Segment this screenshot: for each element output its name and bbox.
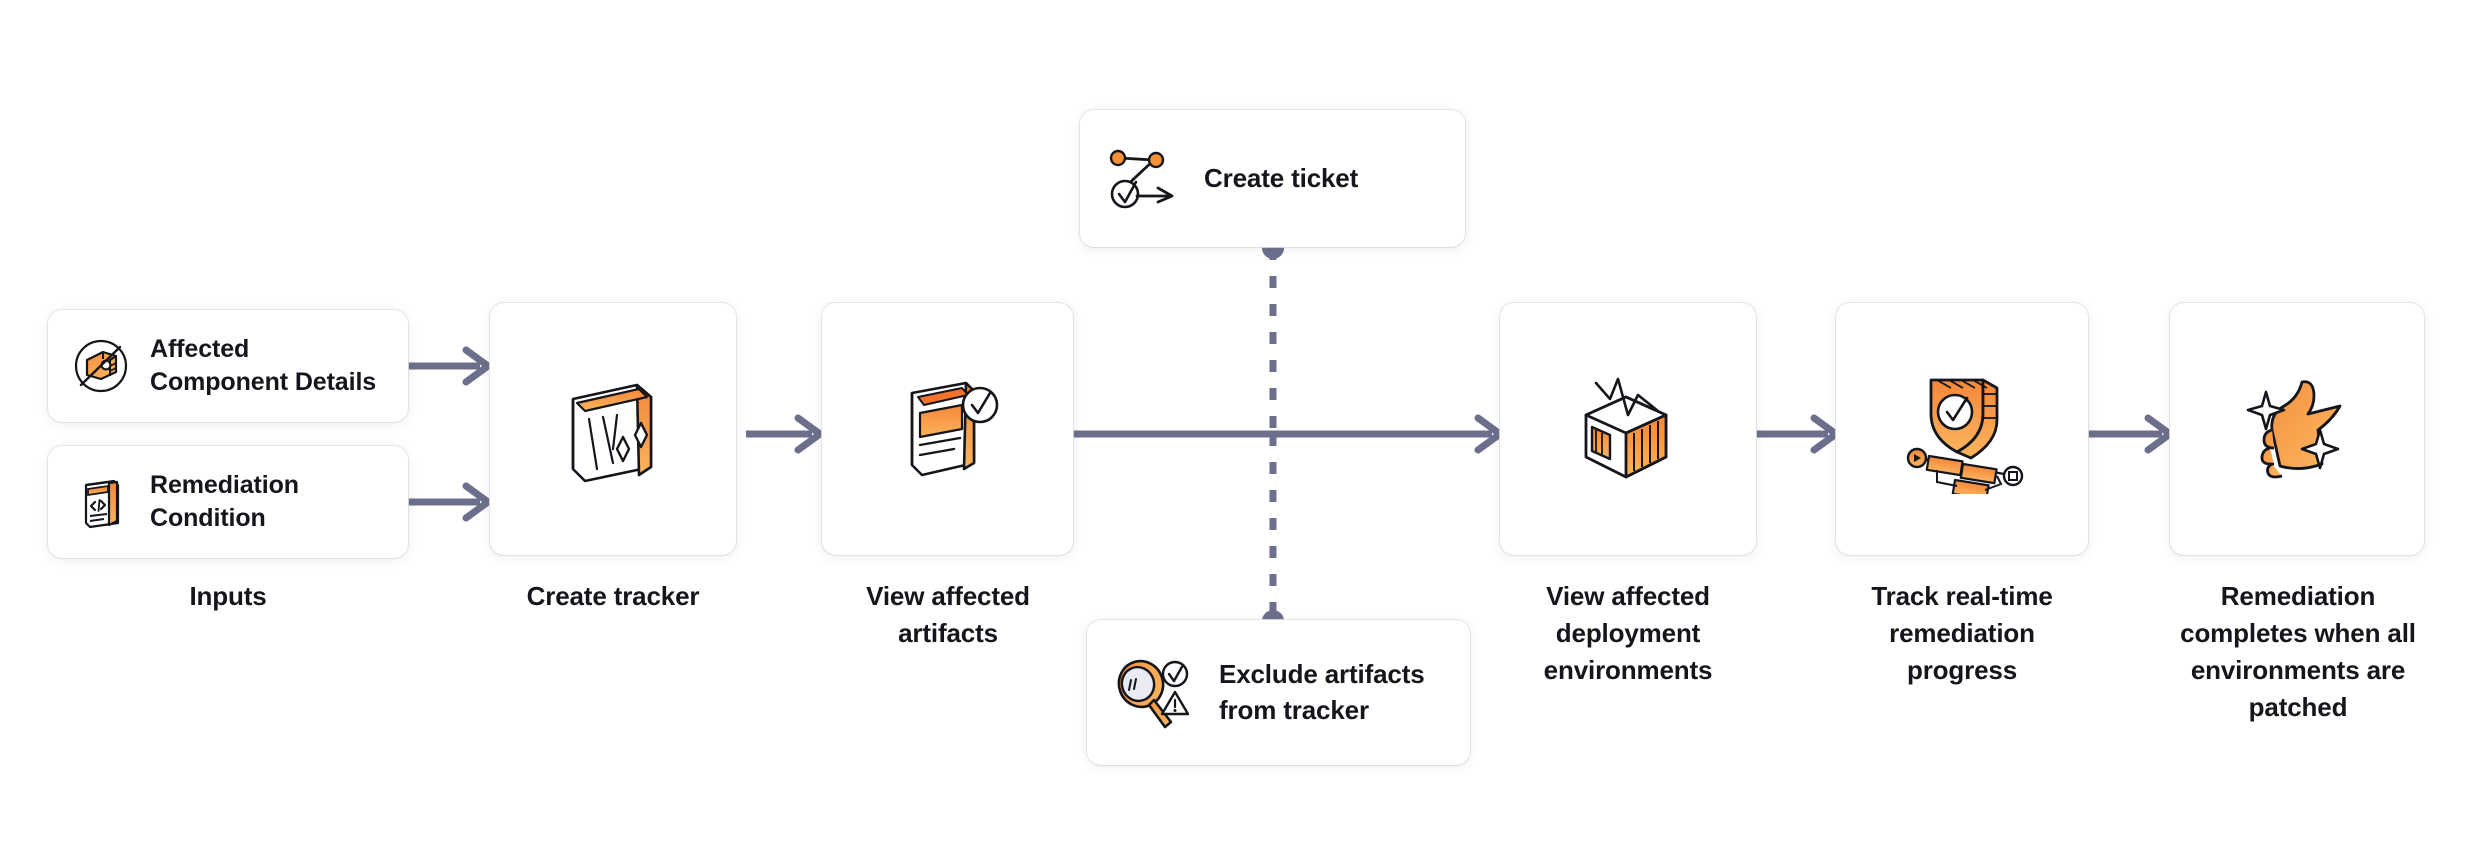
step-card-remediation-complete[interactable]: [2170, 303, 2424, 555]
step-card-create-tracker[interactable]: [490, 303, 736, 555]
step-label-create-tracker: Create tracker: [470, 578, 756, 615]
callout-label-create-ticket: Create ticket: [1204, 161, 1358, 196]
arrow-track-progress-to-remediation-complete: [2088, 418, 2170, 450]
arrow-remediation-condition-to-create-tracker: [408, 486, 488, 518]
input-label-affected-component-details: Affected Component Details: [150, 333, 376, 399]
step-label-track-real-time-remediation-progress: Track real-time remediation progress: [1818, 578, 2106, 689]
workflow-ticket-icon: [1106, 144, 1184, 214]
callout-card-exclude-artifacts-from-tracker[interactable]: Exclude artifacts from tracker: [1087, 620, 1470, 765]
shield-progress-icon: [1897, 364, 2027, 494]
input-card-affected-component-details[interactable]: Affected Component Details: [48, 310, 408, 422]
callout-label-exclude-artifacts-from-tracker: Exclude artifacts from tracker: [1219, 657, 1425, 728]
group-label-inputs: Inputs: [48, 578, 408, 615]
callout-card-create-ticket[interactable]: Create ticket: [1080, 110, 1465, 247]
step-label-remediation-complete: Remediation completes when all environme…: [2152, 578, 2444, 726]
step-label-view-affected-deployment-environments: View affected deployment environments: [1480, 578, 1776, 689]
arrow-view-artifacts-to-view-environments: [1073, 418, 1500, 450]
thumbs-up-icon: [2236, 368, 2358, 490]
input-label-remediation-condition: Remediation Condition: [150, 469, 299, 535]
arrow-create-tracker-to-view-artifacts: [746, 418, 820, 450]
step-card-view-affected-deployment-environments[interactable]: [1500, 303, 1756, 555]
arrow-affected-component-to-create-tracker: [408, 350, 488, 382]
tracker-board-icon: [555, 371, 671, 487]
affected-component-icon: [70, 335, 132, 397]
code-document-icon: [70, 471, 132, 533]
document-check-icon: [890, 371, 1006, 487]
magnifier-exclude-icon: [1113, 652, 1199, 734]
input-card-remediation-condition[interactable]: Remediation Condition: [48, 446, 408, 558]
step-label-view-affected-artifacts: View affected artifacts: [810, 578, 1086, 652]
diagram-canvas: Affected Component Details Remediation C…: [0, 0, 2472, 864]
arrow-view-environments-to-track-progress: [1756, 418, 1836, 450]
step-card-view-affected-artifacts[interactable]: [822, 303, 1073, 555]
deployment-cube-icon: [1566, 367, 1690, 491]
step-card-track-real-time-remediation-progress[interactable]: [1836, 303, 2088, 555]
